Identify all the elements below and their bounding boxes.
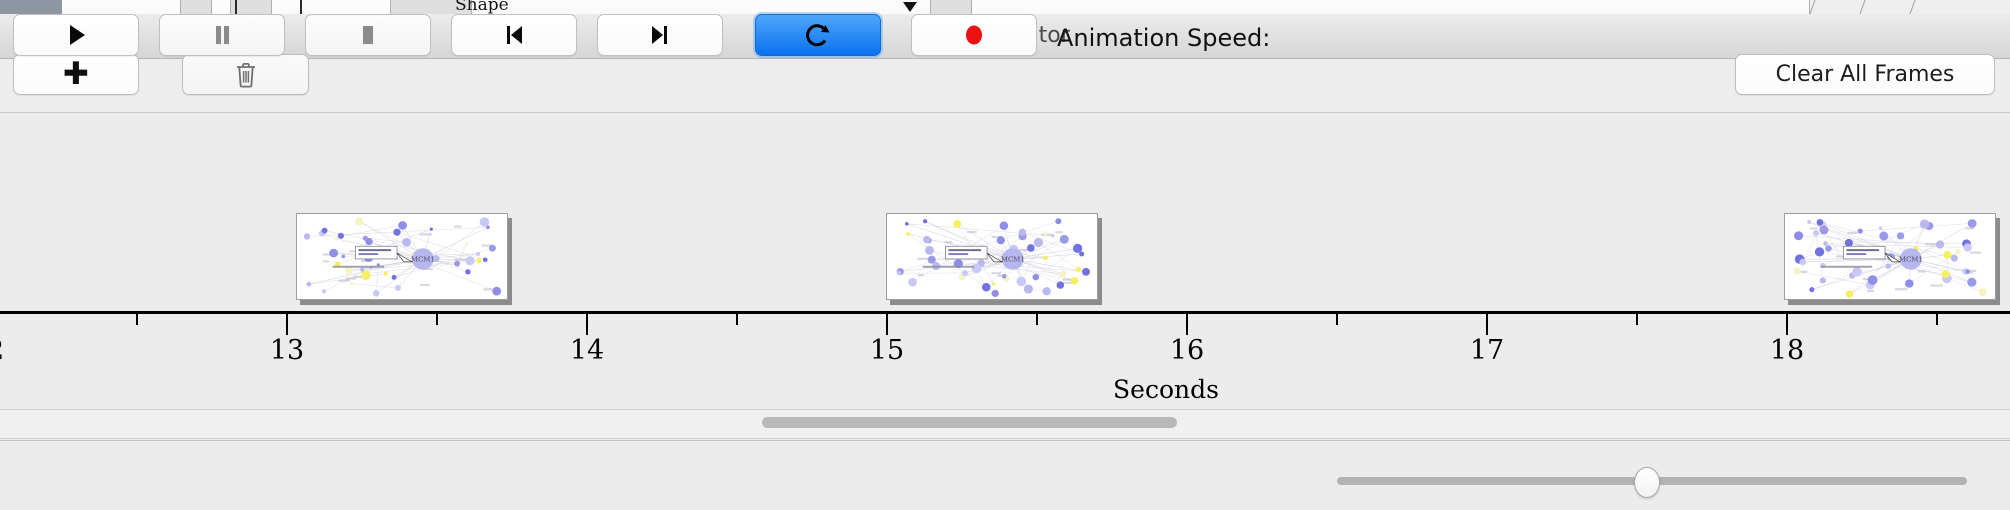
background-tick [235,0,237,14]
timeline-tick [1186,314,1188,335]
timeline-tick [1636,314,1638,325]
timeline-tick [1486,314,1488,335]
animation-speed-slider-knob[interactable] [1634,467,1660,498]
timeline-tick-label: 16 [1170,335,1204,366]
timeline-tick [436,314,438,325]
clear-all-frames-label: Clear All Frames [1776,62,1955,87]
timeline-tick [1786,314,1788,335]
background-window-strip: Shape [0,0,2010,15]
previous-frame-button[interactable] [451,14,577,56]
add-frame-button[interactable]: ✚ [13,54,139,95]
timeline-axis-caption: Seconds [1113,375,1219,404]
timeline-tick [1936,314,1938,325]
timeline-tick [286,314,288,335]
timeline-tick [886,314,888,335]
clear-all-frames-button[interactable]: Clear All Frames [1735,54,1995,95]
timeline-tick-label: 15 [870,335,904,366]
timeline-panel[interactable]: 12131415161718SecondsMCM1MCM1MCM1 [0,113,2010,416]
svg-text:MCM1: MCM1 [1899,255,1923,263]
timeline-tick [736,314,738,325]
background-segment [180,0,212,14]
pause-icon [209,22,235,48]
svg-text:MCM1: MCM1 [1001,255,1025,263]
background-cursor-icon [903,2,917,12]
timeline-tick-label: 18 [1770,335,1804,366]
timeline-tick-label: 14 [570,335,604,366]
play-button[interactable] [13,14,139,56]
cyanimator-window: Shape CyAnimator ✚ Clear All Frames [0,0,2010,510]
keyframe-thumbnail-3[interactable]: MCM1 [1784,213,1996,300]
network-thumbnail-graphic: MCM1 [297,214,507,299]
keyframe-thumbnail-2[interactable]: MCM1 [886,213,1098,300]
network-thumbnail-graphic: MCM1 [1785,214,1995,299]
background-segment [930,0,972,14]
timeline-tick [136,314,138,325]
background-tick [300,0,302,14]
pause-button[interactable] [159,14,285,56]
record-icon [961,22,987,48]
skip-back-icon [501,22,527,48]
timeline-axis-line [0,311,2010,314]
animation-speed-label: Animation Speed: [1057,24,1270,52]
timeline-tick-label: 17 [1470,335,1504,366]
keyframe-thumbnail-1[interactable]: MCM1 [296,213,508,300]
svg-text:MCM1: MCM1 [411,255,435,263]
timeline-scrollbar-thumb[interactable] [762,417,1177,428]
stop-icon [355,22,381,48]
background-window-label: Shape [455,0,509,15]
playback-control-bar [0,440,2010,510]
skip-forward-icon [647,22,673,48]
loop-button[interactable] [755,14,881,56]
timeline-tick [1336,314,1338,325]
timeline-tick-label: 12 [0,335,4,366]
network-thumbnail-graphic: MCM1 [887,214,1097,299]
record-button[interactable] [911,14,1037,56]
timeline-tick [1036,314,1038,325]
background-toolbar-block [0,0,62,14]
delete-frame-button[interactable] [182,54,309,95]
trash-icon [235,62,257,88]
timeline-tick [586,314,588,335]
timeline-tick-label: 13 [270,335,304,366]
plus-icon: ✚ [63,59,89,90]
next-frame-button[interactable] [597,14,723,56]
play-icon [63,22,89,48]
loop-icon [804,21,832,49]
stop-button[interactable] [305,14,431,56]
